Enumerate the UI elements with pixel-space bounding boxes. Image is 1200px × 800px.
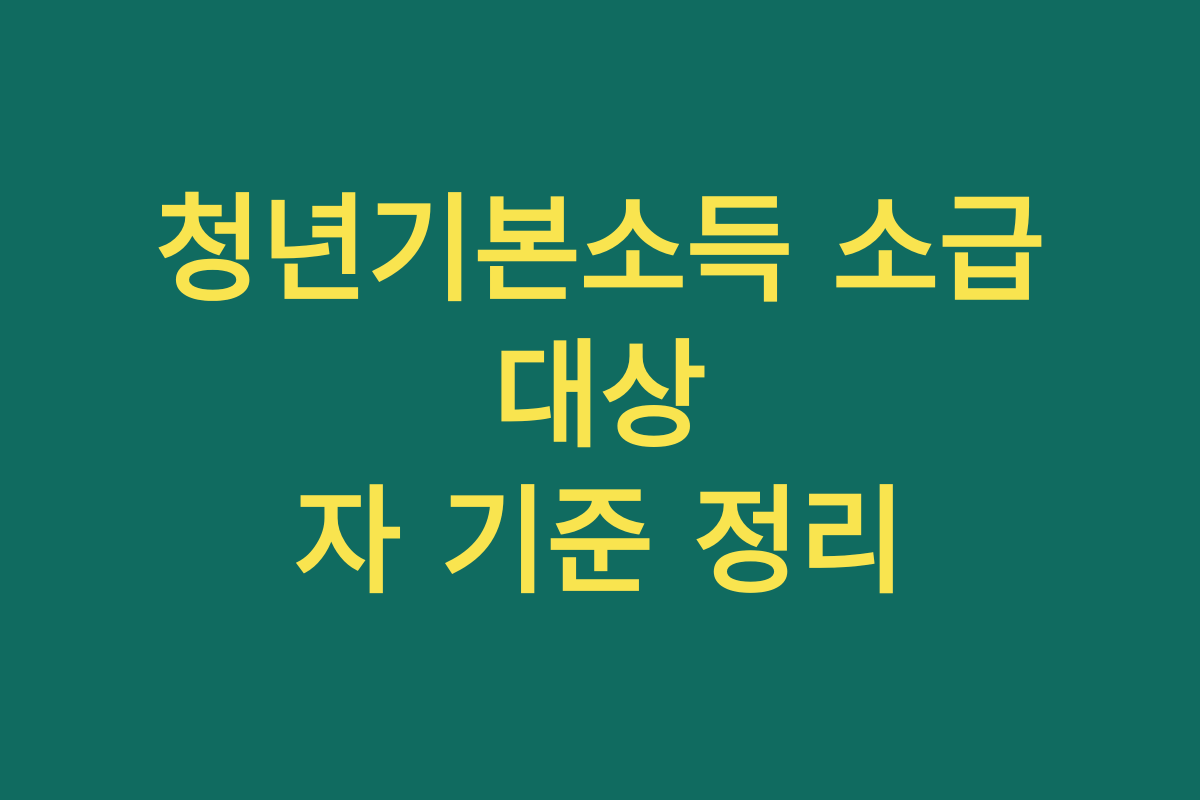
headline-block: 청년기본소득 소급 대상자 기준 정리 xyxy=(80,178,1120,616)
banner-canvas: 청년기본소득 소급 대상자 기준 정리 xyxy=(0,0,1200,800)
headline-line-2: 자 기준 정리 xyxy=(80,470,1120,616)
headline-line-1: 청년기본소득 소급 대상 xyxy=(80,178,1120,470)
page-title: 청년기본소득 소급 대상자 기준 정리 xyxy=(80,178,1120,616)
